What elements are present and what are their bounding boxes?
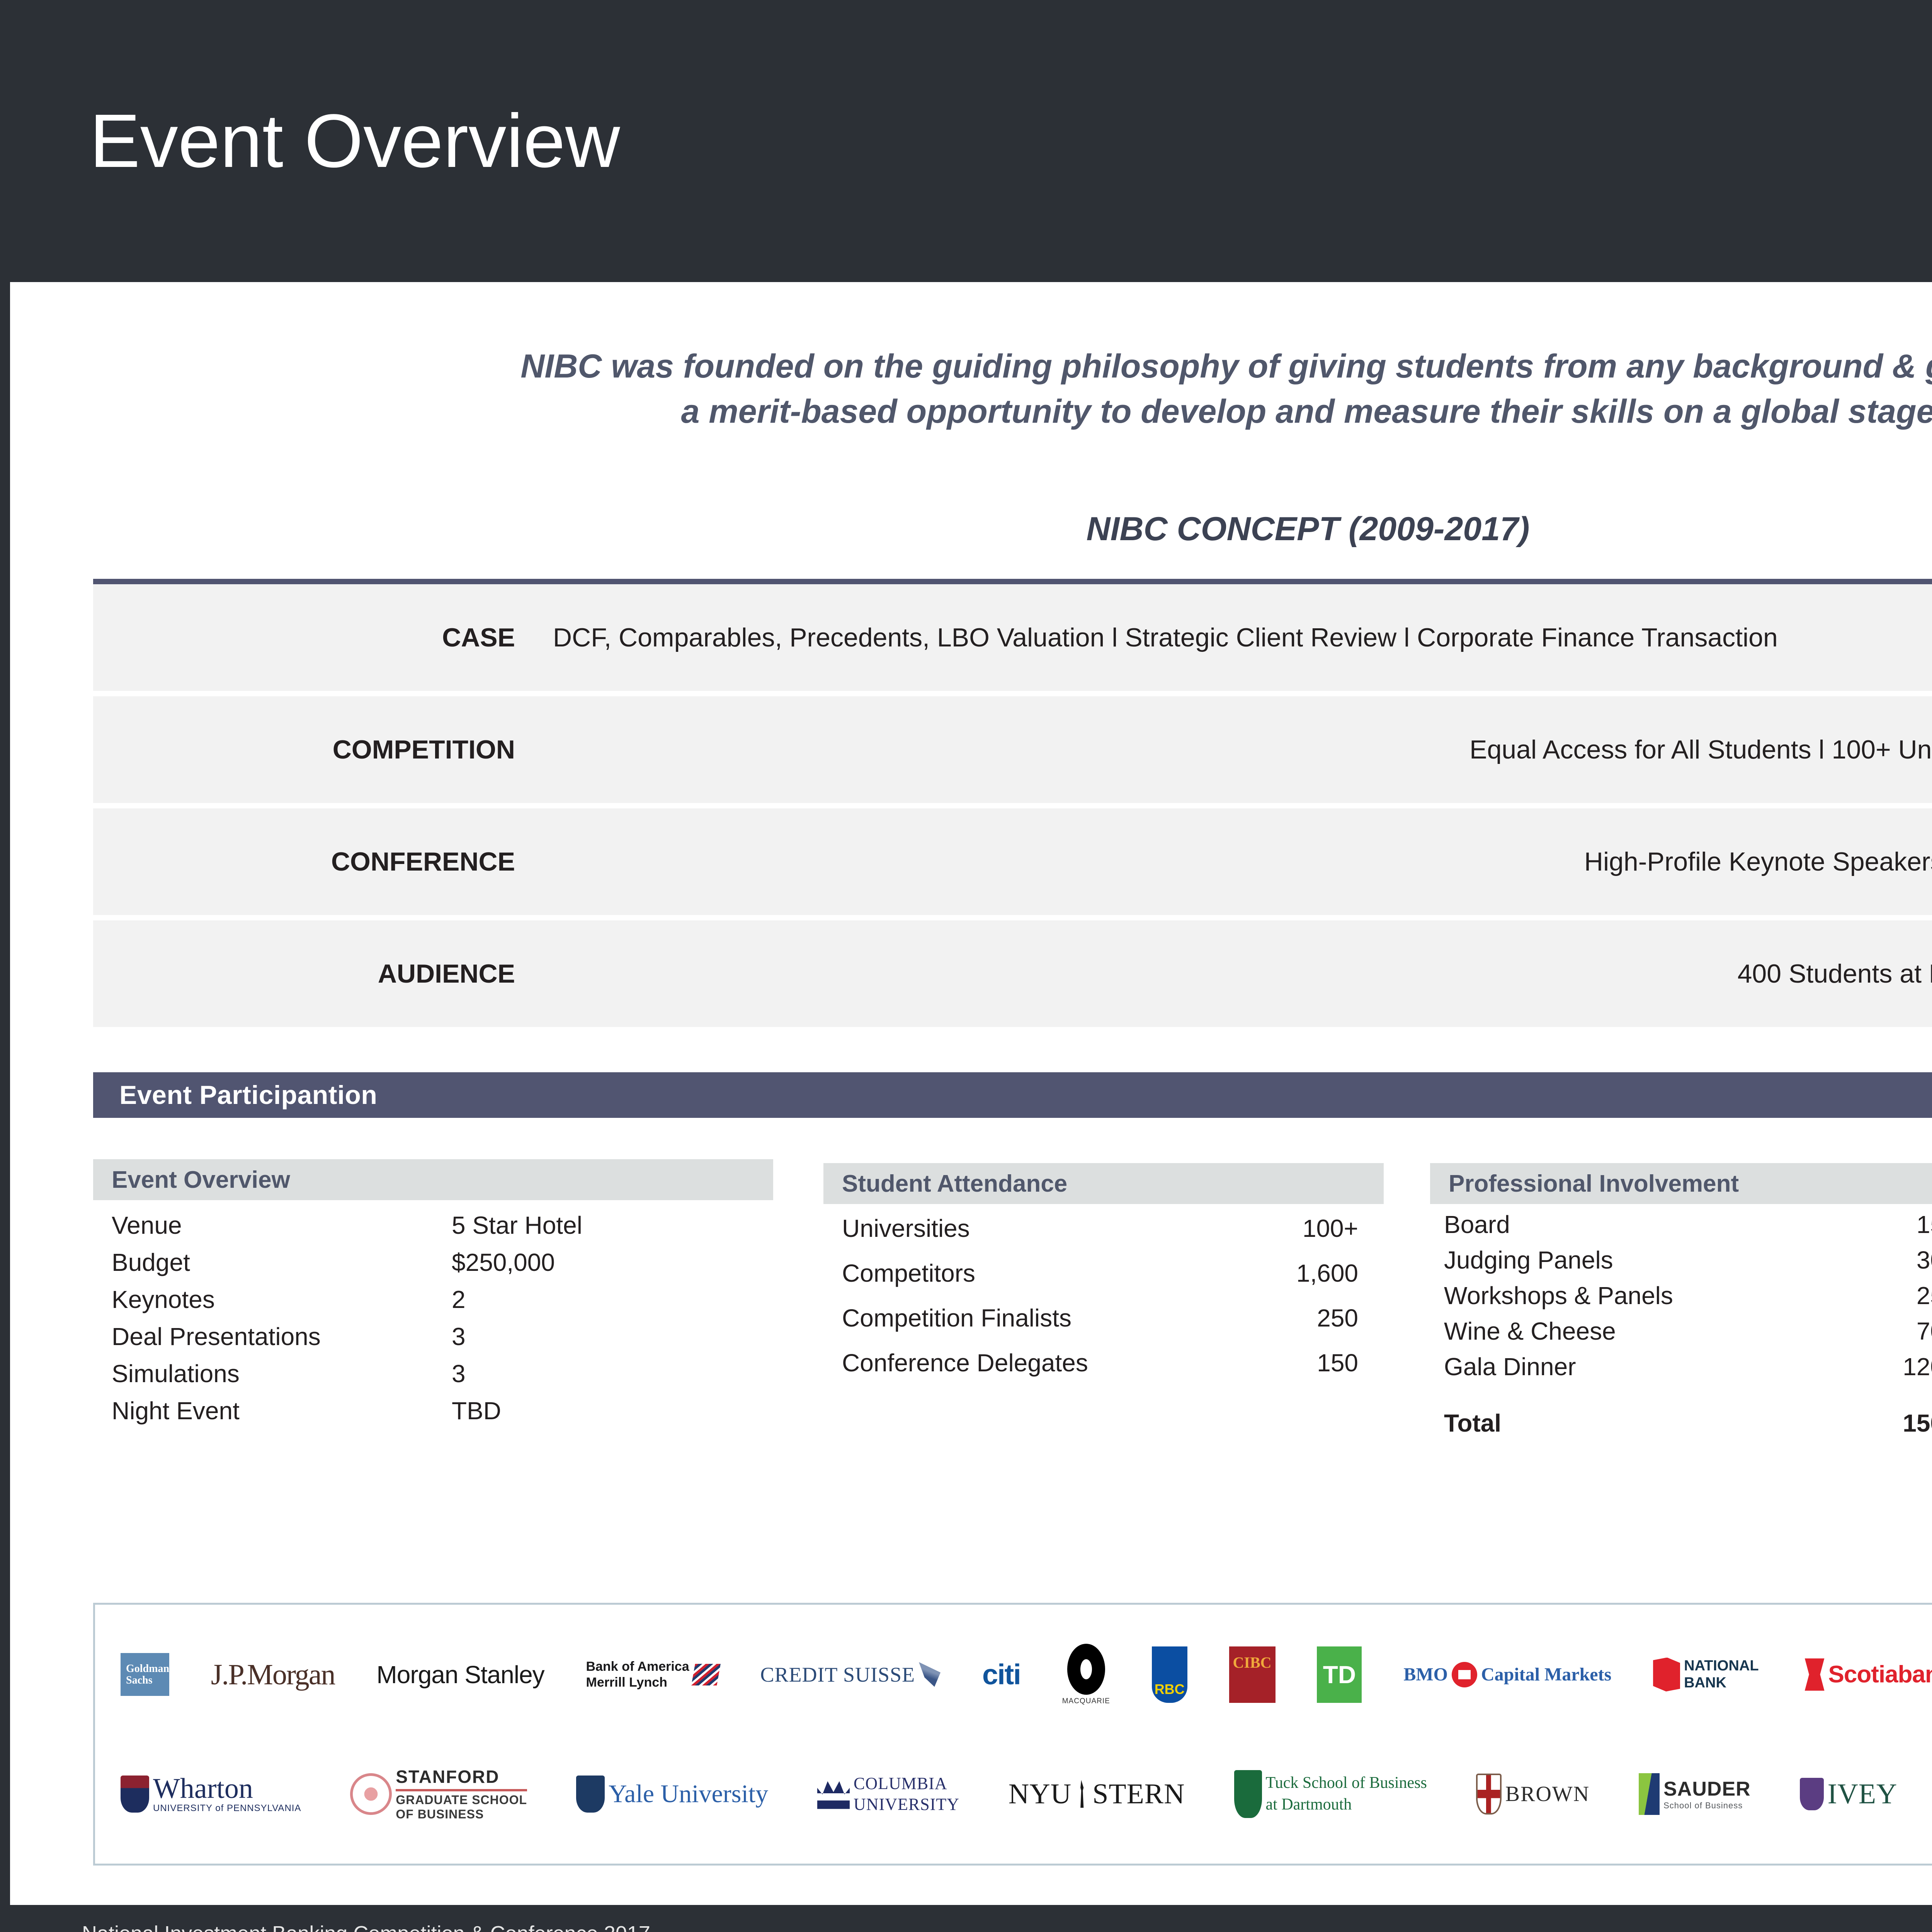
tuck-line-2: at Dartmouth xyxy=(1266,1794,1427,1815)
page-title: Event Overview xyxy=(90,103,620,179)
slide-footer: National Investment Banking Competition … xyxy=(0,1905,1932,1932)
stat-key: Night Event xyxy=(112,1396,452,1425)
table-row: CONFERENCE High-Profile Keynote Speakers… xyxy=(93,808,1932,915)
brown-shield-icon xyxy=(1476,1774,1502,1815)
table-row: COMPETITION Equal Access for All Student… xyxy=(93,696,1932,803)
concept-value: DCF, Comparables, Precedents, LBO Valuat… xyxy=(518,622,1932,653)
stat-value: 250 xyxy=(1256,1304,1384,1332)
concept-value: Equal Access for All Students l 100+ Uni… xyxy=(518,735,1932,765)
stat-key: Board xyxy=(1444,1210,1867,1239)
national-bank-line-2: BANK xyxy=(1684,1675,1759,1692)
macquarie-logo-icon: MACQUARIE xyxy=(1062,1644,1110,1706)
total-key: Total xyxy=(1444,1409,1867,1437)
subtitle-block: NIBC was founded on the guiding philosop… xyxy=(10,344,1932,434)
university-logo-row: Wharton UNIVERSITY of PENNSYLVANIA STANF… xyxy=(111,1734,1932,1854)
sauder-mark-icon xyxy=(1639,1773,1660,1815)
column-rows: Board 15 Judging Panels 30 Workshops & P… xyxy=(1430,1204,1932,1444)
column-title: Student Attendance xyxy=(823,1163,1384,1204)
total-value: 150 xyxy=(1867,1409,1932,1437)
jpmorgan-logo-icon: J.P.Morgan xyxy=(211,1660,335,1689)
td-logo-icon: TD xyxy=(1317,1646,1362,1703)
list-item: Universities 100+ xyxy=(842,1214,1384,1259)
list-item: Keynotes 2 xyxy=(112,1285,773,1322)
column-rows: Venue 5 Star Hotel Budget $250,000 Keyno… xyxy=(93,1200,773,1434)
stat-value: 5 Star Hotel xyxy=(452,1211,668,1240)
stats-columns: Event Overview Venue 5 Star Hotel Budget… xyxy=(93,1159,1932,1445)
stat-value: TBD xyxy=(452,1396,668,1425)
nyu-wordmark: NYU xyxy=(1009,1780,1071,1808)
concept-label: CONFERENCE xyxy=(93,847,518,877)
concept-value: High-Profile Keynote Speakers l Deal Pre… xyxy=(518,847,1932,877)
stat-value: 3 xyxy=(452,1322,668,1351)
event-participation-band: Event Participantion xyxy=(93,1072,1932,1118)
list-item: Gala Dinner 120 xyxy=(1444,1352,1932,1388)
columbia-line-1: COLUMBIA xyxy=(854,1773,959,1794)
baml-flag-icon xyxy=(691,1664,721,1685)
stat-key: Budget xyxy=(112,1248,452,1277)
morgan-stanley-logo-icon: Morgan Stanley xyxy=(376,1662,544,1687)
bank-of-america-merrill-lynch-logo-icon: Bank of America Merrill Lynch xyxy=(586,1659,719,1690)
macquarie-mark-icon xyxy=(1067,1644,1105,1695)
scotiabank-wordmark: Scotiabank xyxy=(1828,1663,1932,1687)
stat-value: 3 xyxy=(452,1359,668,1388)
penn-shield-icon xyxy=(121,1776,149,1813)
stat-value: 15 xyxy=(1867,1210,1932,1239)
table-row: AUDIENCE 400 Students at Final Round l 1… xyxy=(93,920,1932,1027)
sauder-wordmark: SAUDER xyxy=(1663,1777,1751,1801)
stanford-line-1: STANFORD xyxy=(396,1766,527,1787)
cibc-wordmark: CIBC xyxy=(1229,1646,1276,1703)
stat-value: 2 xyxy=(452,1285,668,1314)
citi-logo-icon: citi xyxy=(982,1660,1020,1689)
yale-university-logo-icon: Yale University xyxy=(576,1776,768,1813)
stanford-line-3: OF BUSINESS xyxy=(396,1807,527,1821)
concept-table: CASE DCF, Comparables, Precedents, LBO V… xyxy=(93,579,1932,1032)
scotiabank-mark-icon xyxy=(1801,1658,1825,1691)
nyu-stern-logo-icon: NYU STERN xyxy=(1009,1780,1185,1808)
cibc-logo-icon: CIBC xyxy=(1229,1646,1276,1703)
list-item: Venue 5 Star Hotel xyxy=(112,1211,773,1248)
credit-suisse-wordmark: CREDIT SUISSE xyxy=(760,1664,915,1685)
column-title: Event Overview xyxy=(93,1159,773,1200)
column-rows: Universities 100+ Competitors 1,600 Comp… xyxy=(823,1204,1384,1393)
list-item: Wine & Cheese 70 xyxy=(1444,1317,1932,1352)
concept-title: NIBC CONCEPT (2009-2017) xyxy=(10,510,1932,548)
wharton-logo-icon: Wharton UNIVERSITY of PENNSYLVANIA xyxy=(121,1774,301,1814)
stat-key: Venue xyxy=(112,1211,452,1240)
list-item: Competition Finalists 250 xyxy=(842,1304,1384,1349)
total-row: Total 150 xyxy=(1444,1409,1932,1444)
rbc-wordmark: RBC xyxy=(1152,1646,1187,1703)
list-item: Board 15 xyxy=(1444,1210,1932,1246)
stat-key: Workshops & Panels xyxy=(1444,1281,1867,1310)
stanford-rule xyxy=(396,1789,527,1791)
stat-key: Simulations xyxy=(112,1359,452,1388)
columbia-university-logo-icon: COLUMBIA UNIVERSITY xyxy=(817,1773,959,1815)
wharton-tagline: UNIVERSITY of PENNSYLVANIA xyxy=(153,1803,301,1814)
concept-label: CASE xyxy=(93,622,518,653)
sauder-tagline: School of Business xyxy=(1663,1801,1751,1811)
goldman-line-1: Goldman xyxy=(126,1663,164,1674)
stat-value: 25 xyxy=(1867,1281,1932,1310)
tuck-shield-icon xyxy=(1234,1770,1262,1818)
list-item: Deal Presentations 3 xyxy=(112,1322,773,1359)
sponsor-logo-row: Goldman Sachs J.P.Morgan Morgan Stanley … xyxy=(111,1615,1932,1734)
list-item: Judging Panels 30 xyxy=(1444,1246,1932,1281)
stanford-gsb-logo-icon: STANFORD GRADUATE SCHOOL OF BUSINESS xyxy=(350,1766,527,1821)
list-item: Simulations 3 xyxy=(112,1359,773,1396)
morgan-stanley-wordmark: Morgan Stanley xyxy=(376,1662,544,1687)
stat-key: Competitors xyxy=(842,1259,1256,1287)
column-title: Professional Involvement xyxy=(1430,1163,1932,1204)
list-item: Night Event TBD xyxy=(112,1396,773,1434)
list-item: Budget $250,000 xyxy=(112,1248,773,1285)
stat-key: Wine & Cheese xyxy=(1444,1317,1867,1345)
concept-label: COMPETITION xyxy=(93,735,518,765)
sauder-school-logo-icon: SAUDER School of Business xyxy=(1639,1773,1751,1815)
band-label: Event Participantion xyxy=(119,1080,377,1110)
concept-label: AUDIENCE xyxy=(93,959,518,989)
stat-value: 120 xyxy=(1867,1352,1932,1381)
nyu-torch-icon xyxy=(1075,1780,1088,1808)
national-bank-logo-icon: NATIONAL BANK xyxy=(1653,1658,1759,1692)
ivey-business-school-logo-icon: IVEY xyxy=(1800,1778,1898,1810)
credit-suisse-logo-icon: CREDIT SUISSE xyxy=(760,1662,940,1687)
stat-key: Gala Dinner xyxy=(1444,1352,1867,1381)
columbia-line-2: UNIVERSITY xyxy=(854,1794,959,1815)
stat-value: 30 xyxy=(1867,1246,1932,1274)
concept-value: 400 Students at Final Round l 150 Indust… xyxy=(518,959,1932,989)
tuck-line-1: Tuck School of Business xyxy=(1266,1772,1427,1794)
ivey-shield-icon xyxy=(1800,1778,1824,1810)
macquarie-wordmark: MACQUARIE xyxy=(1062,1697,1110,1706)
ivey-wordmark: IVEY xyxy=(1828,1780,1898,1808)
stat-value: $250,000 xyxy=(452,1248,668,1277)
list-item: Competitors 1,600 xyxy=(842,1259,1384,1304)
yale-wordmark: Yale University xyxy=(609,1781,768,1807)
stat-key: Conference Delegates xyxy=(842,1349,1256,1377)
list-item: Workshops & Panels 25 xyxy=(1444,1281,1932,1317)
credit-suisse-sail-icon xyxy=(919,1662,940,1687)
list-item: Conference Delegates 150 xyxy=(842,1349,1384,1393)
column-student-attendance: Student Attendance Universities 100+ Com… xyxy=(823,1159,1384,1393)
stanford-seal-icon xyxy=(350,1773,392,1815)
column-professional-involvement: Professional Involvement Board 15 Judgin… xyxy=(1430,1159,1932,1444)
footer-text: National Investment Banking Competition … xyxy=(82,1922,650,1932)
yale-shield-icon xyxy=(576,1776,605,1813)
rbc-logo-icon: RBC xyxy=(1152,1646,1187,1703)
table-row: CASE DCF, Comparables, Precedents, LBO V… xyxy=(93,584,1932,691)
stat-value: 1,600 xyxy=(1256,1259,1384,1287)
citi-wordmark: citi xyxy=(982,1660,1020,1689)
columbia-crown-icon xyxy=(817,1779,850,1809)
goldman-sachs-logo-icon: Goldman Sachs xyxy=(121,1653,169,1696)
column-event-overview: Event Overview Venue 5 Star Hotel Budget… xyxy=(93,1159,773,1434)
stat-key: Competition Finalists xyxy=(842,1304,1256,1332)
baml-line-1: Bank of America xyxy=(586,1659,689,1674)
wharton-wordmark: Wharton xyxy=(153,1774,301,1803)
baml-line-2: Merrill Lynch xyxy=(586,1675,689,1690)
stat-key: Deal Presentations xyxy=(112,1322,452,1351)
subtitle-line-2: a merit-based opportunity to develop and… xyxy=(126,389,1932,434)
stat-key: Judging Panels xyxy=(1444,1246,1867,1274)
national-bank-line-1: NATIONAL xyxy=(1684,1658,1759,1675)
scotiabank-logo-icon: Scotiabank xyxy=(1801,1658,1932,1691)
bmo-wordmark: BMO xyxy=(1403,1665,1448,1684)
stat-key: Keynotes xyxy=(112,1285,452,1314)
slide: Event Overview NIBC NIBC was founded on … xyxy=(0,0,1932,1932)
brown-wordmark: BROWN xyxy=(1505,1783,1590,1805)
partner-logo-strip: Goldman Sachs J.P.Morgan Morgan Stanley … xyxy=(93,1603,1932,1866)
brown-university-logo-icon: BROWN xyxy=(1476,1774,1590,1815)
bmo-capital-markets-text: Capital Markets xyxy=(1481,1665,1611,1684)
bmo-capital-markets-logo-icon: BMO Capital Markets xyxy=(1403,1662,1611,1687)
subtitle-line-1: NIBC was founded on the guiding philosop… xyxy=(126,344,1932,389)
tuck-school-logo-icon: Tuck School of Business at Dartmouth xyxy=(1234,1770,1427,1818)
td-wordmark: TD xyxy=(1317,1646,1362,1703)
stern-wordmark: STERN xyxy=(1092,1780,1185,1808)
jpmorgan-wordmark: J.P.Morgan xyxy=(211,1660,335,1689)
goldman-line-2: Sachs xyxy=(126,1675,164,1686)
stat-value: 150 xyxy=(1256,1349,1384,1377)
bmo-roundel-icon xyxy=(1452,1662,1477,1687)
stat-value: 70 xyxy=(1867,1317,1932,1345)
slide-header: Event Overview NIBC xyxy=(0,0,1932,282)
stat-key: Universities xyxy=(842,1214,1256,1243)
stanford-line-2: GRADUATE SCHOOL xyxy=(396,1793,527,1807)
national-bank-flag-icon xyxy=(1653,1658,1680,1692)
stat-value: 100+ xyxy=(1256,1214,1384,1243)
